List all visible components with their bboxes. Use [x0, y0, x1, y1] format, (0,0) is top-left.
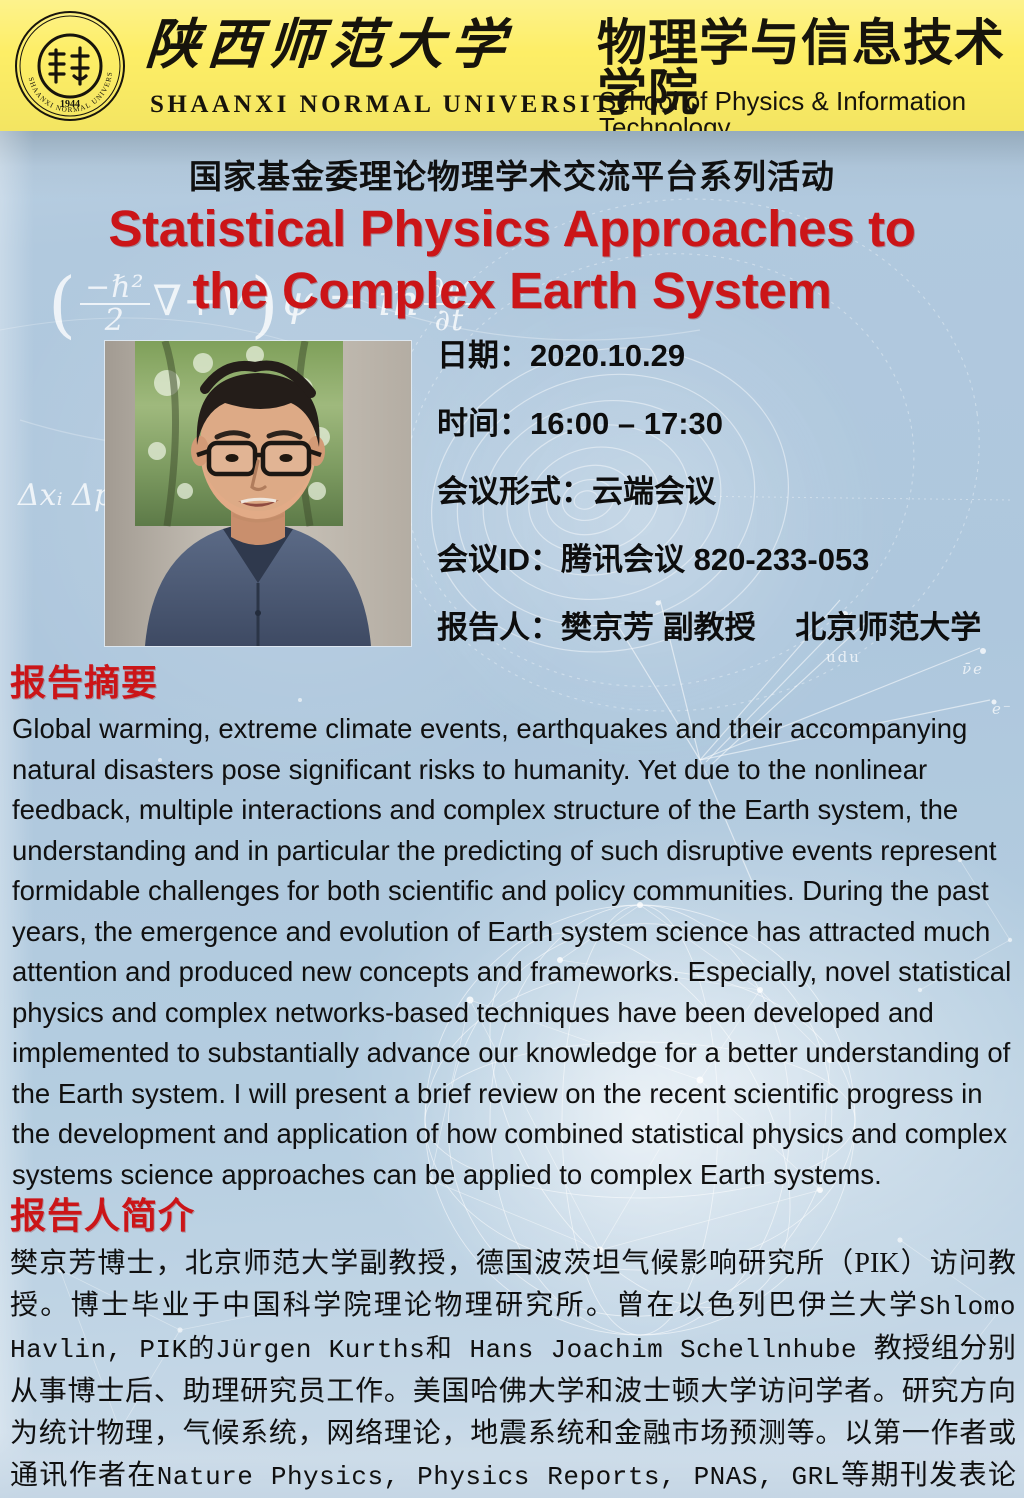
school-name-en: School of Physics & Information Technolo… — [599, 88, 1024, 131]
speaker-portrait-image — [105, 341, 411, 646]
main-title-line-1: Statistical Physics Approaches to — [0, 198, 1024, 260]
university-name-cn: 陕西师范大学 — [144, 18, 514, 72]
detail-meeting-id: 会议ID：腾讯会议 820-233-053 — [437, 544, 1017, 575]
bio-body: 樊京芳博士，北京师范大学副教授，德国波茨坦气候影响研究所（PIK）访问教授。博士… — [10, 1243, 1016, 1498]
main-title-line-2: the Complex Earth System — [0, 260, 1024, 322]
series-title: 国家基金委理论物理学术交流平台系列活动 — [0, 150, 1024, 198]
detail-time: 时间：16:00 – 17:30 — [437, 408, 1017, 439]
university-seal-icon: 1944 SHAANXI NORMAL UNIVERSITY — [14, 10, 126, 122]
bio-text-part-1: 樊京芳博士，北京师范大学副教授，德国波茨坦气候影响研究所（PIK）访问教授。博士… — [10, 1248, 1016, 1321]
event-details: 日期：2020.10.29 时间：16:00 – 17:30 会议形式：云端会议… — [437, 340, 1017, 643]
detail-date: 日期：2020.10.29 — [437, 340, 1017, 371]
main-title: Statistical Physics Approaches to the Co… — [0, 198, 1024, 322]
detail-format: 会议形式：云端会议 — [437, 476, 1017, 507]
university-name-en: SHAANXI NORMAL UNIVERSITY — [150, 92, 635, 117]
abstract-heading: 报告摘要 — [10, 665, 158, 701]
institution-header: 1944 SHAANXI NORMAL UNIVERSITY 陕西师范大学 SH… — [0, 0, 1024, 131]
detail-speaker: 报告人：樊京芳 副教授 北京师范大学 — [437, 612, 1017, 643]
abstract-body: Global warming, extreme climate events, … — [12, 709, 1012, 1195]
seminar-poster: (−ℏ²2∇+V)ψ = iℏ∂ψ∂t Δxᵢ Δpᵢ udu ν̄e e⁻ 1… — [0, 0, 1024, 1498]
bio-journal-names: Nature Physics, Physics Reports, PNAS, G… — [157, 1462, 840, 1492]
speaker-photo — [105, 341, 411, 646]
bio-heading: 报告人简介 — [10, 1198, 195, 1234]
